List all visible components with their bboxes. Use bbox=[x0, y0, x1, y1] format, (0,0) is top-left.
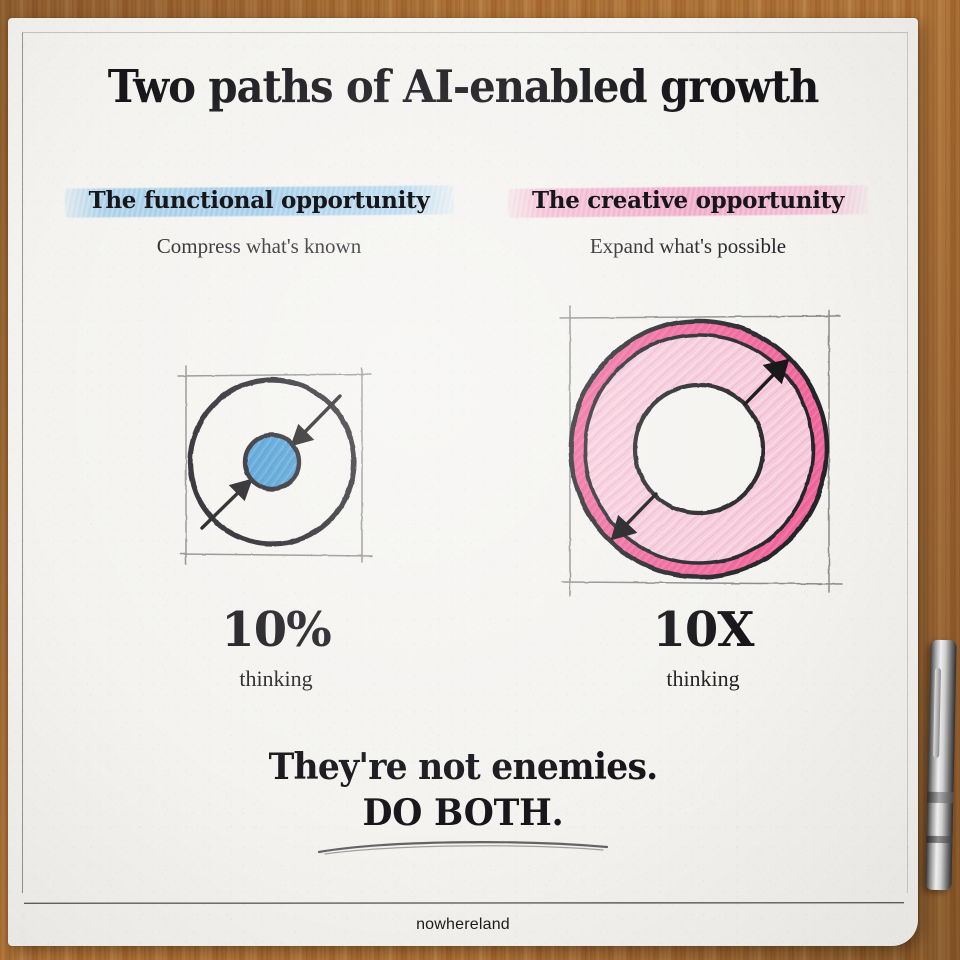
column-functional: The functional opportunity Compress what… bbox=[44, 184, 474, 259]
creative-stat: 10X thinking bbox=[588, 606, 818, 692]
creative-heading-wrap: The creative opportunity bbox=[518, 184, 858, 218]
poster-content: Two paths of AI-enabled growth The funct… bbox=[8, 18, 918, 946]
functional-stat: 10% thinking bbox=[168, 606, 384, 692]
functional-heading-wrap: The functional opportunity bbox=[75, 184, 444, 218]
poster-stage: Two paths of AI-enabled growth The funct… bbox=[0, 0, 960, 960]
creative-stat-caption: thinking bbox=[588, 666, 818, 692]
functional-stat-number: 10% bbox=[168, 606, 384, 654]
functional-core-dot bbox=[245, 435, 299, 489]
pen-band-lower bbox=[926, 836, 952, 844]
creative-diagram bbox=[532, 294, 862, 604]
functional-subtitle: Compress what's known bbox=[44, 234, 474, 259]
pen-band-upper bbox=[927, 792, 953, 804]
column-creative: The creative opportunity Expand what's p… bbox=[478, 184, 898, 259]
closing-line-1: They're not enemies. bbox=[26, 746, 900, 788]
functional-heading: The functional opportunity bbox=[89, 187, 430, 214]
creative-diagram-svg bbox=[532, 294, 862, 604]
paper-card: Two paths of AI-enabled growth The funct… bbox=[8, 18, 918, 946]
functional-diagram-svg bbox=[166, 356, 382, 572]
pen-clip bbox=[933, 668, 941, 758]
footer-brand: nowhereland bbox=[8, 916, 918, 934]
page-title: Two paths of AI-enabled growth bbox=[40, 60, 886, 113]
creative-heading: The creative opportunity bbox=[532, 187, 844, 214]
creative-stat-number: 10X bbox=[588, 606, 818, 654]
pen-object bbox=[925, 640, 956, 890]
footer-divider bbox=[24, 902, 904, 904]
closing-line-2: DO BOTH. bbox=[26, 792, 900, 834]
closing-statement: They're not enemies. DO BOTH. bbox=[8, 746, 918, 856]
functional-diagram bbox=[166, 356, 382, 572]
functional-stat-caption: thinking bbox=[168, 666, 384, 692]
creative-subtitle: Expand what's possible bbox=[478, 234, 898, 259]
closing-underline-swoosh bbox=[313, 838, 613, 856]
